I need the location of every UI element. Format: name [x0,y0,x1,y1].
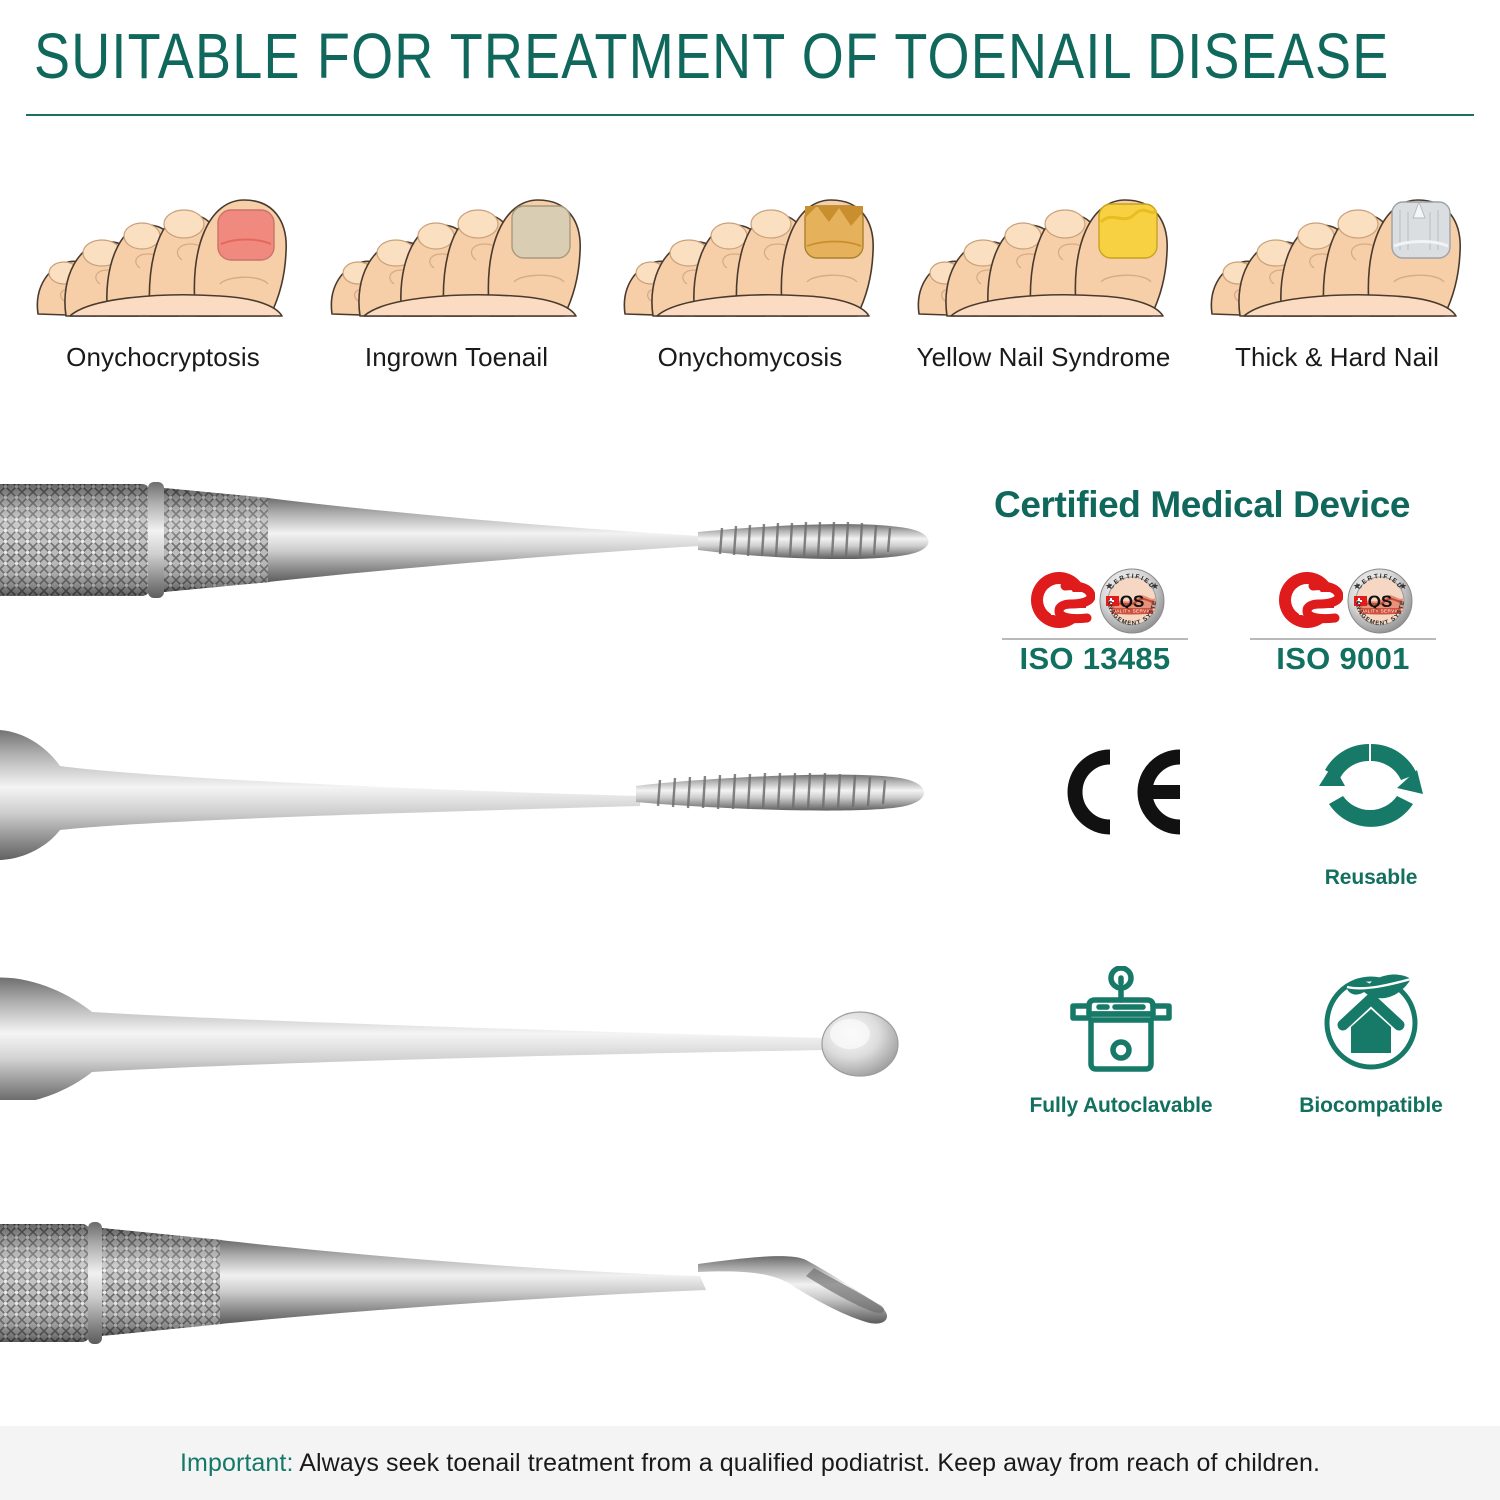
condition-item-yellow-nail-syndrome: Yellow Nail Syndrome [901,126,1187,390]
certification-badges: Reusable [996,728,1496,1118]
condition-item-thick-hard-nail: Thick & Hard Nail [1194,126,1480,390]
condition-item-onychomycosis: Onychomycosis [607,126,893,390]
serrated-rasp-tip [698,522,929,559]
condition-label: Yellow Nail Syndrome [917,342,1171,373]
footer-text: Important: Always seek toenail treatment… [180,1449,1320,1478]
qs-certified-seal: QS QUALITY SERVICE CERTIFIED MANAGEMENT … [1347,568,1413,634]
panel-title: Certified Medical Device [994,484,1494,526]
badge-ce-mark [996,728,1246,890]
condition-label: Onychomycosis [658,342,843,373]
svg-text:★: ★ [1105,581,1113,591]
conditions-strip: Onychocryptosis [0,126,1500,390]
iso-certifications: QS QUALITY SERVICE CERTIFIED MANAGEMENT … [1000,566,1480,677]
recycle-arrows-icon [1319,728,1423,856]
iso-cert-13485: QS QUALITY SERVICE CERTIFIED MANAGEMENT … [1000,566,1190,677]
page-title: SUITABLE FOR TREATMENT OF TOENAIL DISEAS… [34,18,1474,96]
badge-row-2: Fully Autoclavable Biocompatible [996,956,1496,1118]
footer-emphasis: Important: [180,1449,294,1477]
qs-logo-group: QS QUALITY SERVICE CERTIFIED MANAGEMENT … [1273,566,1413,636]
autoclave-icon [1065,956,1177,1084]
instrument-nail-file-knurled-handle [0,470,960,610]
ce-mark-icon [1056,728,1186,856]
foot-illustration-icon [314,126,600,326]
handle-smooth [0,977,826,1100]
condition-item-onychocryptosis: Onychocryptosis [20,126,306,390]
condition-item-ingrown-toenail: Ingrown Toenail [314,126,600,390]
iso-cert-9001: QS QUALITY SERVICE CERTIFIED MANAGEMENT … [1248,566,1438,677]
qs-logo-group: QS QUALITY SERVICE CERTIFIED MANAGEMENT … [1025,566,1165,636]
iso-label: ISO 9001 [1276,641,1409,677]
foot-illustration-icon [20,126,306,326]
iso-underline [1250,638,1436,640]
footer-body: Always seek toenail treatment from a qua… [294,1449,1320,1477]
svg-text:★: ★ [1399,581,1407,591]
foot-illustration-icon [1194,126,1480,326]
instruments-gallery [0,410,980,1410]
foot-illustration-icon [901,126,1187,326]
shaft [220,1240,706,1324]
header: SUITABLE FOR TREATMENT OF TOENAIL DISEAS… [0,0,1500,118]
qs-certified-seal: QS QUALITY SERVICE CERTIFIED MANAGEMENT … [1099,568,1165,634]
shaft [268,498,700,582]
leaf-house-icon [1317,956,1425,1084]
certification-panel: Certified Medical Device [980,470,1500,1130]
badge-caption: Reusable [1325,866,1418,890]
badge-caption: Biocompatible [1299,1094,1442,1118]
badge-fully-autoclavable: Fully Autoclavable [996,956,1246,1118]
qs-logo [1273,568,1343,634]
product-infographic: SUITABLE FOR TREATMENT OF TOENAIL DISEAS… [0,0,1500,1500]
iso-label: ISO 13485 [1020,641,1171,677]
condition-label: Ingrown Toenail [365,342,548,373]
iso-underline [1002,638,1188,640]
badge-reusable: Reusable [1246,728,1496,890]
condition-label: Onychocryptosis [66,342,260,373]
badge-row-1: Reusable [996,728,1496,890]
svg-text:★: ★ [1353,581,1361,591]
serrated-rasp-tip [636,773,924,811]
foot-illustration-icon [607,126,893,326]
badge-caption: Fully Autoclavable [1030,1094,1213,1118]
header-divider [26,114,1474,116]
condition-label: Thick & Hard Nail [1235,342,1439,373]
angled-elevator-tip [698,1256,887,1323]
instrument-nail-elevator-knurled [0,1210,960,1360]
spoon-curette-tip [822,1012,898,1076]
handle-smooth [0,730,640,860]
handle-knurled [0,1222,222,1344]
svg-text:★: ★ [1151,581,1159,591]
footer-disclaimer-bar: Important: Always seek toenail treatment… [0,1426,1500,1500]
qs-logo [1025,568,1095,634]
badge-biocompatible: Biocompatible [1246,956,1496,1118]
instrument-nail-rasp-smooth-handle [0,720,960,860]
instrument-nail-curette [0,960,960,1100]
handle-knurled [0,482,270,598]
